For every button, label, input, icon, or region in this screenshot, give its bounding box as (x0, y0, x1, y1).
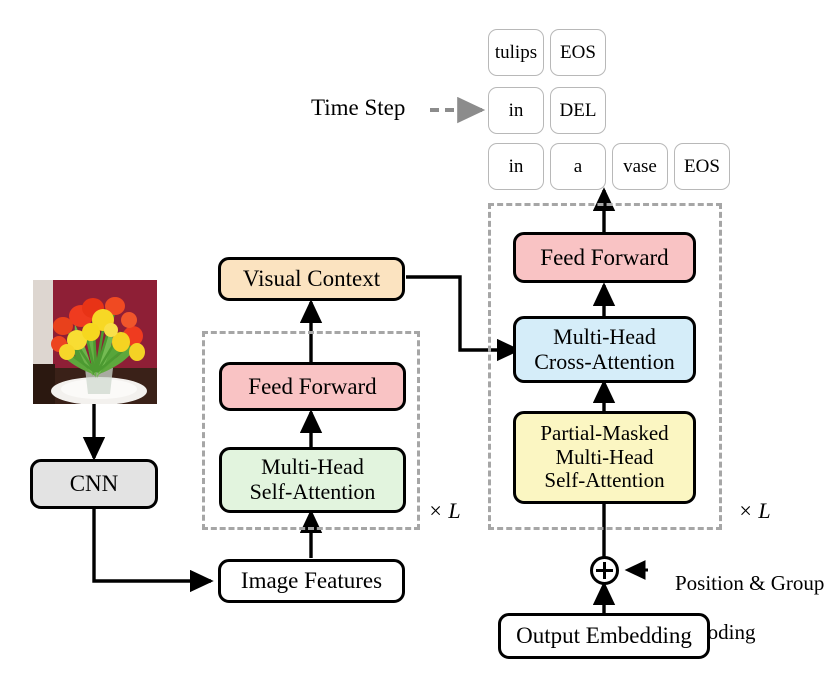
partial-masked-line1: Partial-Masked (516, 422, 693, 446)
token-cell[interactable]: EOS (674, 143, 730, 190)
encoder-feed-forward-block[interactable]: Feed Forward (219, 362, 406, 411)
position-encoding-line1: Position & Group (675, 571, 824, 595)
cross-attention-line1: Multi-Head (516, 325, 693, 350)
encoder-feed-forward-label: Feed Forward (222, 374, 403, 400)
encoder-repeat-label: × L (428, 498, 461, 524)
decoder-cross-attention-block[interactable]: Multi-Head Cross-Attention (513, 316, 696, 383)
decoder-repeat-label: × L (738, 498, 771, 524)
token-cell[interactable]: vase (612, 143, 668, 190)
visual-context-block[interactable]: Visual Context (218, 257, 405, 301)
partial-masked-self-attention-block[interactable]: Partial-Masked Multi-Head Self-Attention (513, 411, 696, 504)
decoder-feed-forward-label: Feed Forward (516, 245, 693, 271)
token-cell[interactable]: EOS (550, 29, 606, 76)
output-embedding-label: Output Embedding (501, 623, 707, 649)
figure-canvas: tulips EOS in DEL in a vase EOS Time Ste… (0, 0, 832, 686)
add-circle-icon (590, 556, 619, 585)
input-image (33, 280, 157, 404)
token-cell[interactable]: a (550, 143, 606, 190)
token-cell[interactable]: in (488, 87, 544, 134)
encoder-self-attention-block[interactable]: Multi-Head Self-Attention (219, 447, 406, 513)
cross-attention-line2: Cross-Attention (516, 350, 693, 375)
visual-context-label: Visual Context (221, 266, 402, 292)
partial-masked-line3: Self-Attention (516, 469, 693, 493)
time-step-label: Time Step (311, 95, 405, 121)
image-features-label: Image Features (221, 568, 402, 594)
partial-masked-line2: Multi-Head (516, 446, 693, 470)
token-cell[interactable]: tulips (488, 29, 544, 76)
decoder-feed-forward-block[interactable]: Feed Forward (513, 232, 696, 283)
cnn-label: CNN (33, 471, 155, 497)
image-features-block[interactable]: Image Features (218, 559, 405, 603)
encoder-self-attention-line2: Self-Attention (222, 480, 403, 505)
output-embedding-block[interactable]: Output Embedding (498, 613, 710, 659)
token-cell[interactable]: DEL (550, 87, 606, 134)
token-cell[interactable]: in (488, 143, 544, 190)
cnn-block[interactable]: CNN (30, 459, 158, 509)
encoder-self-attention-line1: Multi-Head (222, 455, 403, 480)
